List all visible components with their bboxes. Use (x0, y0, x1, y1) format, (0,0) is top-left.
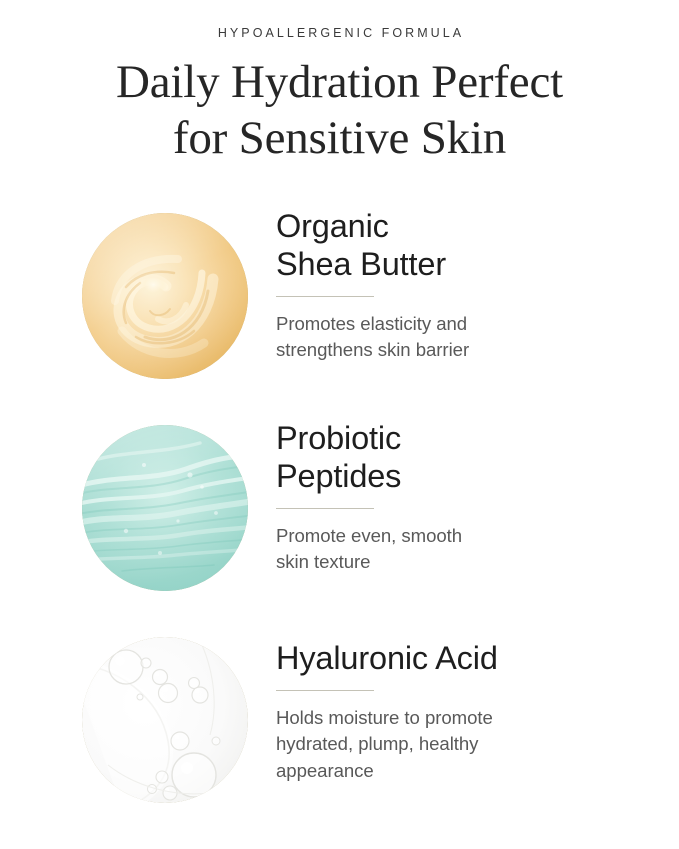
description-line-2: skin texture (276, 549, 646, 575)
ingredient-description-hyaluronic-acid: Holds moisture to promote hydrated, plum… (276, 705, 646, 784)
ingredient-row-hyaluronic-acid: Hyaluronic Acid Holds moisture to promot… (0, 629, 679, 841)
description-line-2: hydrated, plump, healthy (276, 731, 646, 757)
probiotic-peptides-swatch-container (82, 425, 248, 591)
ingredient-title-line-2: Shea Butter (276, 245, 646, 283)
headline-line-2: for Sensitive Skin (0, 110, 679, 167)
shea-butter-swatch-container (82, 213, 248, 379)
ingredient-row-probiotic-peptides: Probiotic Peptides Promote even, smooth … (0, 417, 679, 629)
ingredient-description-shea-butter: Promotes elasticity and strengthens skin… (276, 311, 646, 364)
divider (276, 690, 374, 691)
description-line-3: appearance (276, 758, 646, 784)
probiotic-peptides-swatch (82, 425, 248, 591)
page-title: Daily Hydration Perfect for Sensitive Sk… (0, 54, 679, 168)
description-line-1: Promote even, smooth (276, 523, 646, 549)
ingredient-title-shea-butter: Organic Shea Butter (276, 207, 646, 283)
hyaluronic-acid-swatch (82, 637, 248, 803)
description-line-1: Holds moisture to promote (276, 705, 646, 731)
header: HYPOALLERGENIC FORMULA Daily Hydration P… (0, 0, 679, 167)
hyaluronic-acid-text: Hyaluronic Acid Holds moisture to promot… (276, 639, 646, 784)
ingredient-list: Organic Shea Butter Promotes elasticity … (0, 205, 679, 841)
ingredient-title-line-1: Probiotic (276, 419, 646, 457)
shea-butter-swatch (82, 213, 248, 379)
headline-line-1: Daily Hydration Perfect (0, 54, 679, 111)
ingredient-title-hyaluronic-acid: Hyaluronic Acid (276, 639, 646, 677)
ingredient-title-line-1: Organic (276, 207, 646, 245)
eyebrow-label: HYPOALLERGENIC FORMULA (0, 27, 679, 40)
ingredient-title-line-2: Peptides (276, 457, 646, 495)
ingredient-title-line-1: Hyaluronic Acid (276, 639, 646, 677)
product-ingredient-infographic: HYPOALLERGENIC FORMULA Daily Hydration P… (0, 0, 679, 849)
ingredient-row-shea-butter: Organic Shea Butter Promotes elasticity … (0, 205, 679, 417)
ingredient-title-probiotic-peptides: Probiotic Peptides (276, 419, 646, 495)
divider (276, 296, 374, 297)
description-line-2: strengthens skin barrier (276, 337, 646, 363)
hyaluronic-acid-swatch-container (82, 637, 248, 803)
description-line-1: Promotes elasticity and (276, 311, 646, 337)
probiotic-peptides-text: Probiotic Peptides Promote even, smooth … (276, 419, 646, 576)
divider (276, 508, 374, 509)
ingredient-description-probiotic-peptides: Promote even, smooth skin texture (276, 523, 646, 576)
shea-butter-text: Organic Shea Butter Promotes elasticity … (276, 207, 646, 364)
